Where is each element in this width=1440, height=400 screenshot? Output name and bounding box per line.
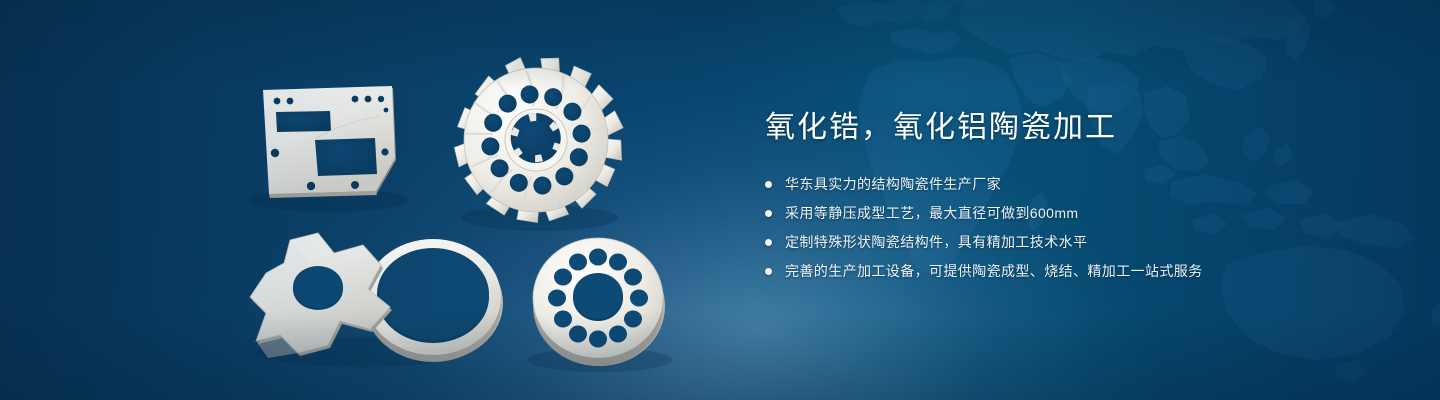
- list-item: 采用等静压成型工艺，最大直径可做到600mm: [765, 203, 1385, 223]
- bullet-dot-icon: [765, 239, 772, 246]
- list-item-label: 完善的生产加工设备，可提供陶瓷成型、烧结、精加工一站式服务: [785, 261, 1203, 281]
- page-title: 氧化锆，氧化铝陶瓷加工: [765, 108, 1385, 148]
- banner-copy: 氧化锆，氧化铝陶瓷加工 华东具实力的结构陶瓷件生产厂家 采用等静压成型工艺，最大…: [765, 108, 1385, 281]
- list-item: 定制特殊形状陶瓷结构件，具有精加工技术水平: [765, 232, 1385, 252]
- list-item-label: 定制特殊形状陶瓷结构件，具有精加工技术水平: [785, 232, 1087, 252]
- bullet-dot-icon: [765, 210, 772, 217]
- feature-list: 华东具实力的结构陶瓷件生产厂家 采用等静压成型工艺，最大直径可做到600mm 定…: [765, 174, 1385, 281]
- list-item-label: 华东具实力的结构陶瓷件生产厂家: [785, 174, 1001, 194]
- bullet-dot-icon: [765, 181, 772, 188]
- list-item: 华东具实力的结构陶瓷件生产厂家: [765, 174, 1385, 194]
- list-item: 完善的生产加工设备，可提供陶瓷成型、烧结、精加工一站式服务: [765, 261, 1385, 281]
- bullet-dot-icon: [765, 268, 772, 275]
- list-item-label: 采用等静压成型工艺，最大直径可做到600mm: [785, 203, 1078, 223]
- hero-banner: 氧化锆，氧化铝陶瓷加工 华东具实力的结构陶瓷件生产厂家 采用等静压成型工艺，最大…: [0, 0, 1440, 400]
